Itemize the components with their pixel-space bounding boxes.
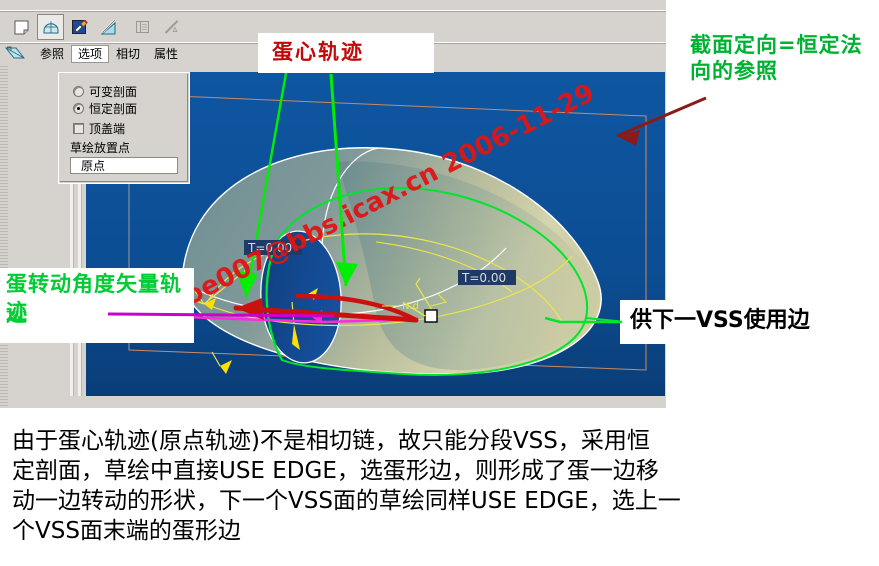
caption-block: 由于蛋心轨迹(原点轨迹)不是相切链，故只能分段VSS，采用恒 定剖面，草绘中直接… bbox=[0, 408, 879, 566]
left-scroll-rail[interactable] bbox=[0, 64, 8, 408]
annotation-next-vss-overlay: 供下一VSS使用边 bbox=[626, 300, 879, 344]
sketch-placement-input[interactable]: 原点 bbox=[70, 157, 178, 174]
small-dim-label: N.d bbox=[402, 301, 419, 312]
annotation-next-vss-edge-text-overlay: 供下一VSS使用边 bbox=[626, 300, 879, 342]
thicken-surface-icon bbox=[99, 17, 119, 37]
caption-line-4: 个VSS面末端的蛋形边 bbox=[0, 516, 879, 546]
toolbar-icon-group bbox=[8, 14, 185, 40]
tab-options-label: 选项 bbox=[78, 47, 102, 61]
radio-constant-section-icon[interactable] bbox=[73, 103, 84, 114]
sweep-tool-icon bbox=[4, 45, 28, 63]
radio-constant-section-label: 恒定剖面 bbox=[89, 100, 137, 117]
radio-variable-section-icon[interactable] bbox=[73, 86, 84, 97]
datum-handle-right bbox=[425, 310, 437, 322]
tab-options[interactable]: 选项 bbox=[71, 45, 109, 63]
tab-list: 参照 选项 相切 属性 bbox=[33, 45, 185, 63]
caption-line-1: 由于蛋心轨迹(原点轨迹)不是相切链，故只能分段VSS，采用恒 bbox=[0, 426, 879, 456]
surface-patch-icon-button[interactable] bbox=[8, 14, 35, 40]
annotation-egg-center-trajectory-overlay: 蛋心轨迹 bbox=[258, 33, 434, 73]
tab-tangency[interactable]: 相切 bbox=[109, 45, 147, 63]
t-label-right-group: T=0.00 bbox=[458, 270, 516, 285]
tab-properties-label: 属性 bbox=[154, 47, 178, 61]
sketch-edit-icon-button[interactable] bbox=[66, 14, 93, 40]
radio-variable-section-row[interactable]: 可变剖面 bbox=[73, 83, 137, 100]
caption-line-3: 动一边转动的形状，下一个VSS面的草绘同样USE EDGE，选上一 bbox=[0, 486, 879, 516]
caption-line-2: 定剖面，草绘中直接USE EDGE，选蛋形边，则形成了蛋一边移 bbox=[0, 456, 879, 486]
annotation-egg-center-trajectory-text-overlay: 蛋心轨迹 bbox=[258, 33, 434, 71]
annotation-rotation-vector-box-foot bbox=[0, 330, 194, 343]
tab-tangency-label: 相切 bbox=[116, 47, 140, 61]
radio-variable-section-label: 可变剖面 bbox=[89, 83, 137, 100]
tab-references[interactable]: 参照 bbox=[33, 45, 71, 63]
trajectory-icon bbox=[162, 17, 182, 37]
options-panel: 可变剖面 恒定剖面 顶盖端 草绘放置点 原点 bbox=[58, 72, 190, 184]
caption-lines: 由于蛋心轨迹(原点轨迹)不是相切链，故只能分段VSS，采用恒 定剖面，草绘中直接… bbox=[0, 426, 879, 546]
trajectory-icon-button[interactable] bbox=[158, 14, 185, 40]
checkbox-cap-ends-icon[interactable] bbox=[73, 123, 84, 134]
checkbox-cap-ends-row[interactable]: 顶盖端 bbox=[73, 120, 125, 137]
tab-references-label: 参照 bbox=[40, 47, 64, 61]
annotation-rotation-vector-box-overlay: 蛋转动角度矢量轨迹 bbox=[0, 268, 194, 311]
t-label-right-text: T=0.00 bbox=[461, 271, 506, 285]
annotation-section-orientation-overlay: 截面定向=恒定法向的参照 bbox=[666, 0, 879, 92]
annotation-section-orientation-text-overlay: 截面定向=恒定法向的参照 bbox=[690, 32, 876, 84]
radio-constant-section-row[interactable]: 恒定剖面 bbox=[73, 100, 137, 117]
mesh-surface-icon-button[interactable] bbox=[37, 14, 64, 40]
mesh-surface-icon bbox=[41, 17, 61, 37]
screenshot-root: 参照 选项 相切 属性 bbox=[0, 0, 879, 566]
checkbox-cap-ends-label: 顶盖端 bbox=[89, 120, 125, 137]
section-list-icon bbox=[133, 17, 153, 37]
tab-properties[interactable]: 属性 bbox=[147, 45, 185, 63]
thicken-surface-icon-button[interactable] bbox=[95, 14, 122, 40]
sketch-edit-icon bbox=[70, 17, 90, 37]
surface-patch-icon bbox=[12, 17, 32, 37]
section-list-icon-button[interactable] bbox=[129, 14, 156, 40]
annotation-rotation-vector-trajectory-text-overlay: 蛋转动角度矢量轨迹 bbox=[6, 270, 196, 326]
sketch-placement-label: 草绘放置点 bbox=[70, 139, 130, 156]
